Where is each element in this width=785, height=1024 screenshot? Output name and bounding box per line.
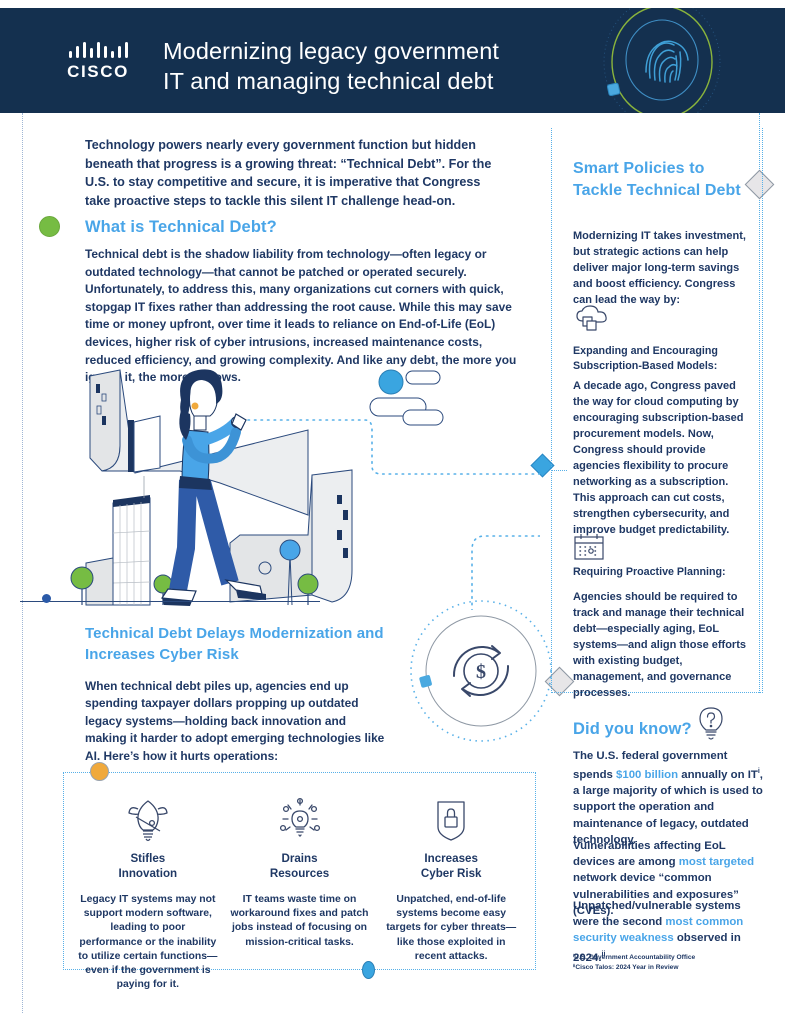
section-body-delays-modernization: When technical debt piles up, agencies e… [85,678,385,765]
cloud-stack-icon [573,305,613,340]
lightbulb-question-icon [694,706,728,747]
card-text: Legacy IT systems may not support modern… [78,893,218,992]
woman-walking-city-illustration [40,358,540,610]
shield-lock-icon [381,797,521,843]
dyk-p1-post: annually on IT [678,769,758,781]
page-header: CISCO Modernizing legacy government IT a… [0,8,785,113]
green-dot-marker [39,216,60,237]
fingerprint-icon [592,8,732,113]
card-text: Unpatched, end-of-life systems become ea… [381,893,521,964]
sidebar-item-heading-subscription: Expanding and Encouraging Subscription-B… [573,344,753,373]
rocket-bulb-icon [78,797,218,843]
footnote-1: ⁱU.S. Government Accountability Office [573,953,783,963]
dyk-p2-highlight: most targeted [679,856,754,868]
did-you-know-paragraph-1: The U.S. federal government spends $100 … [573,748,769,848]
infographic-page: CISCO Modernizing legacy government IT a… [0,0,785,1024]
intro-paragraph: Technology powers nearly every governmen… [85,136,500,210]
card-text: IT teams waste time on workaround fixes … [230,893,370,950]
card-stifles-innovation: Stifles Innovation Legacy IT systems may… [72,797,224,969]
ground-line [20,601,320,602]
left-dotted-rail [22,113,23,1013]
section-title-what-is-technical-debt: What is Technical Debt? [85,216,505,238]
blue-oval-marker [362,961,375,979]
sidebar-item-body-planning: Agencies should be required to track and… [573,589,753,701]
card-increases-cyber-risk: Increases Cyber Risk Unpatched, end-of-l… [375,797,527,969]
sidebar-intro: Modernizing IT takes investment, but str… [573,228,751,308]
cisco-bridge-icon [50,40,146,58]
svg-text:$: $ [476,661,486,683]
money-recycle-icon: $ [408,598,554,744]
sidebar-item-body-subscription: A decade ago, Congress paved the way for… [573,378,753,538]
orange-dot-marker [90,762,109,781]
footnote-2: ⁱⁱCisco Talos: 2024 Year in Review [573,963,783,973]
section-title-delays-modernization: Technical Debt Delays Modernization and … [85,624,385,665]
blue-dot-marker [42,594,51,603]
cisco-wordmark: CISCO [50,62,146,82]
impact-cards-panel: Stifles Innovation Legacy IT systems may… [63,772,536,970]
lightbulb-idea-icon [230,797,370,843]
card-drains-resources: Drains Resources IT teams waste time on … [224,797,376,969]
did-you-know-title: Did you know? [573,718,692,740]
calendar-icon [573,533,605,566]
sidebar-title: Smart Policies to Tackle Technical Debt [573,158,748,201]
card-title: Drains Resources [230,851,370,881]
card-title: Increases Cyber Risk [381,851,521,881]
footnotes: ⁱU.S. Government Accountability Office ⁱ… [573,953,783,972]
page-title: Modernizing legacy government IT and man… [163,36,499,96]
dyk-p1-highlight: $100 billion [616,769,678,781]
cisco-logo: CISCO [50,40,146,86]
sidebar-item-heading-planning: Requiring Proactive Planning: [573,565,753,580]
card-title: Stifles Innovation [78,851,218,881]
